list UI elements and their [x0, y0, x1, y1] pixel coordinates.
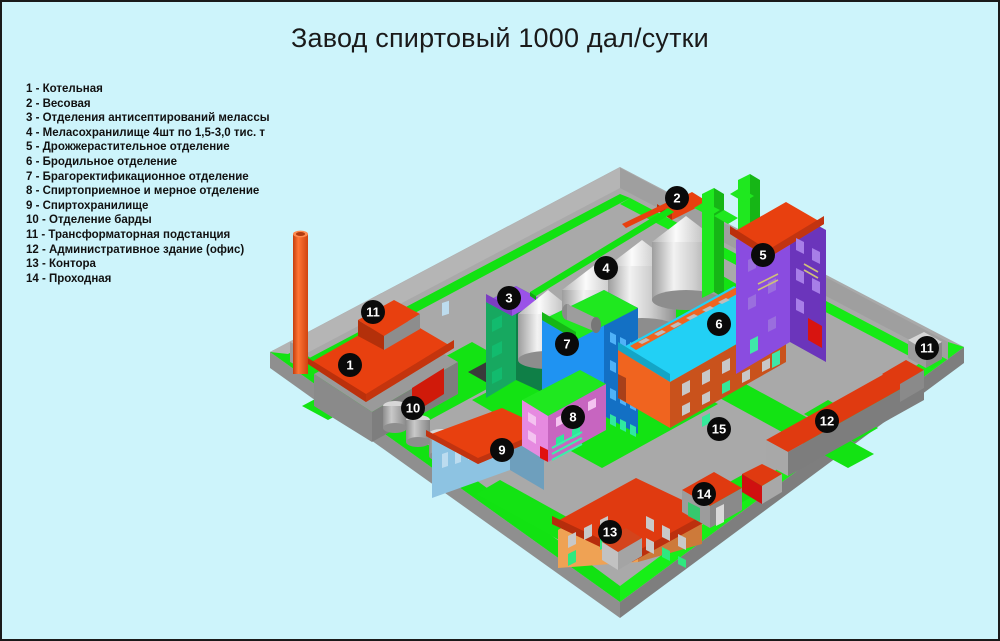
marker-transformer-substation-left: 11 [361, 300, 385, 324]
marker-yard: 15 [707, 417, 731, 441]
svg-text:15: 15 [712, 422, 726, 437]
diagram-page: Завод спиртовый 1000 дал/сутки 1 - Котел… [0, 0, 1000, 641]
marker-molasses-antiseptic-dept: 3 [497, 286, 521, 310]
marker-molasses-silos: 4 [594, 256, 618, 280]
marker-stillage-dept: 10 [401, 396, 425, 420]
svg-text:13: 13 [603, 525, 617, 540]
svg-text:11: 11 [920, 341, 934, 356]
svg-text:7: 7 [563, 337, 570, 352]
factory-site-isometric-diagram: 12345678910111112131415 [2, 2, 1000, 641]
svg-text:11: 11 [366, 305, 380, 320]
svg-text:5: 5 [759, 248, 766, 263]
building-5-yeast-growing-dept [730, 202, 826, 374]
marker-office: 13 [598, 520, 622, 544]
svg-text:14: 14 [697, 487, 712, 502]
marker-weighbridge: 2 [665, 186, 689, 210]
svg-text:4: 4 [602, 261, 610, 276]
marker-distillation-rectification-dept: 7 [555, 332, 579, 356]
marker-fermentation-dept: 6 [707, 312, 731, 336]
marker-transformer-substation-right: 11 [915, 336, 939, 360]
svg-text:10: 10 [406, 401, 420, 416]
svg-text:9: 9 [498, 443, 505, 458]
svg-text:6: 6 [715, 317, 722, 332]
marker-admin-building: 12 [815, 409, 839, 433]
svg-text:1: 1 [346, 358, 353, 373]
marker-spirit-receiving-dept: 8 [561, 405, 585, 429]
svg-text:2: 2 [673, 191, 680, 206]
marker-spirit-storage: 9 [490, 438, 514, 462]
chimney [293, 231, 308, 374]
svg-text:3: 3 [505, 291, 512, 306]
marker-yeast-growing-dept: 5 [751, 243, 775, 267]
svg-text:8: 8 [569, 410, 576, 425]
marker-boiler-house: 1 [338, 353, 362, 377]
marker-gatehouse: 14 [692, 482, 716, 506]
svg-text:12: 12 [820, 414, 834, 429]
